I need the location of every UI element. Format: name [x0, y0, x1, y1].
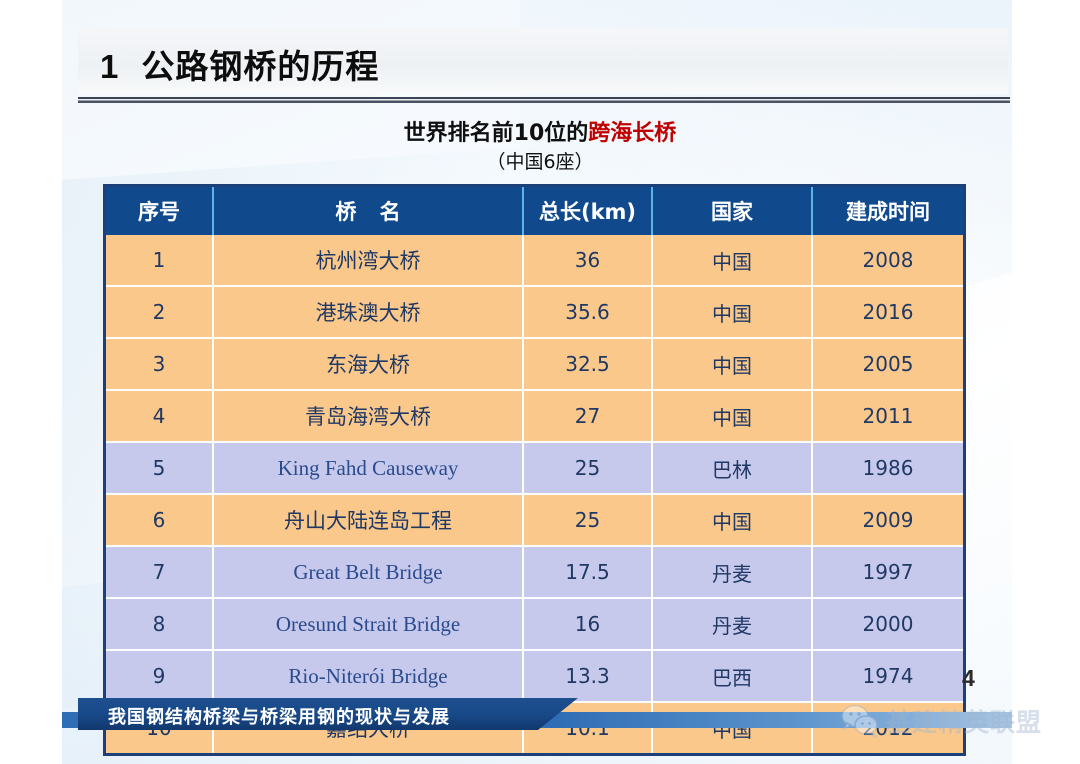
- cell-total-length: 25: [523, 494, 652, 546]
- cell-index: 5: [106, 442, 213, 494]
- watermark-text: 基建精英联盟: [886, 703, 1042, 739]
- table-row: 7Great Belt Bridge17.5丹麦1997: [106, 546, 963, 598]
- cell-total-length: 16: [523, 598, 652, 650]
- cell-index: 6: [106, 494, 213, 546]
- page-title: 1公路钢桥的历程: [100, 40, 379, 88]
- cell-completion-year: 2009: [812, 494, 963, 546]
- cell-country: 丹麦: [652, 598, 812, 650]
- bridges-table-container: 序号 桥 名 总长(km) 国家 建成时间 1杭州湾大桥36中国20082港珠澳…: [103, 184, 966, 756]
- presentation-slide: 1公路钢桥的历程 世界排名前10位的跨海长桥 （中国6座） 序号 桥 名 总长(…: [0, 0, 1080, 764]
- cell-country: 中国: [652, 338, 812, 390]
- cell-total-length: 25: [523, 442, 652, 494]
- column-header-completion-year-label: 建成时间: [846, 200, 930, 224]
- column-header-country: 国家: [652, 187, 812, 235]
- slide-page-number: 4: [962, 665, 975, 692]
- cell-country: 中国: [652, 494, 812, 546]
- cell-completion-year: 2008: [812, 235, 963, 286]
- table-row: 3东海大桥32.5中国2005: [106, 338, 963, 390]
- footer-title: 我国钢结构桥梁与桥梁用钢的现状与发展: [108, 703, 450, 729]
- cell-country: 巴林: [652, 442, 812, 494]
- table-row: 1杭州湾大桥36中国2008: [106, 235, 963, 286]
- cell-completion-year: 1986: [812, 442, 963, 494]
- column-header-total-length: 总长(km): [523, 187, 652, 235]
- cell-index: 7: [106, 546, 213, 598]
- cell-total-length: 35.6: [523, 286, 652, 338]
- subtitle-primary-accent: 跨海长桥: [588, 121, 676, 146]
- cell-completion-year: 2011: [812, 390, 963, 442]
- column-header-index: 序号: [106, 187, 213, 235]
- cell-total-length: 32.5: [523, 338, 652, 390]
- slide-margin-left: [0, 0, 62, 764]
- column-header-bridge-name: 桥 名: [213, 187, 523, 235]
- cell-index: 8: [106, 598, 213, 650]
- cell-country: 中国: [652, 286, 812, 338]
- cell-completion-year: 1997: [812, 546, 963, 598]
- title-divider-rule: [78, 97, 1010, 103]
- slide-margin-right: [1012, 0, 1080, 764]
- table-header: 序号 桥 名 总长(km) 国家 建成时间: [106, 187, 963, 235]
- cell-bridge-name: Great Belt Bridge: [213, 546, 523, 598]
- subtitle-secondary: （中国6座）: [0, 147, 1080, 174]
- wechat-icon: [840, 703, 880, 739]
- cell-index: 4: [106, 390, 213, 442]
- cell-completion-year: 2000: [812, 598, 963, 650]
- title-label: 公路钢桥的历程: [141, 47, 379, 86]
- cell-bridge-name: 舟山大陆连岛工程: [213, 494, 523, 546]
- column-header-total-length-label: 总长(km): [539, 200, 636, 224]
- column-header-country-label: 国家: [711, 200, 753, 224]
- bridges-table: 序号 桥 名 总长(km) 国家 建成时间 1杭州湾大桥36中国20082港珠澳…: [106, 187, 963, 753]
- cell-total-length: 36: [523, 235, 652, 286]
- table-row: 8Oresund Strait Bridge16丹麦2000: [106, 598, 963, 650]
- cell-bridge-name: Oresund Strait Bridge: [213, 598, 523, 650]
- table-row: 4青岛海湾大桥27中国2011: [106, 390, 963, 442]
- cell-country: 丹麦: [652, 546, 812, 598]
- cell-bridge-name: 东海大桥: [213, 338, 523, 390]
- cell-index: 1: [106, 235, 213, 286]
- watermark: 基建精英联盟: [840, 694, 1070, 748]
- subtitle-primary: 世界排名前10位的跨海长桥: [0, 115, 1080, 147]
- subtitle-primary-prefix: 世界排名前10位的: [404, 121, 589, 146]
- column-header-completion-year: 建成时间: [812, 187, 963, 235]
- cell-completion-year: 2005: [812, 338, 963, 390]
- cell-country: 中国: [652, 235, 812, 286]
- column-header-index-label: 序号: [138, 200, 180, 224]
- cell-completion-year: 2016: [812, 286, 963, 338]
- column-header-bridge-name-label: 桥 名: [327, 200, 408, 224]
- table-row: 6舟山大陆连岛工程25中国2009: [106, 494, 963, 546]
- table-header-row: 序号 桥 名 总长(km) 国家 建成时间: [106, 187, 963, 235]
- table-row: 2港珠澳大桥35.6中国2016: [106, 286, 963, 338]
- cell-index: 2: [106, 286, 213, 338]
- cell-bridge-name: 港珠澳大桥: [213, 286, 523, 338]
- cell-total-length: 27: [523, 390, 652, 442]
- table-row: 5King Fahd Causeway25巴林1986: [106, 442, 963, 494]
- cell-total-length: 17.5: [523, 546, 652, 598]
- table-body: 1杭州湾大桥36中国20082港珠澳大桥35.6中国20163东海大桥32.5中…: [106, 235, 963, 753]
- cell-bridge-name: 杭州湾大桥: [213, 235, 523, 286]
- cell-index: 3: [106, 338, 213, 390]
- cell-bridge-name: King Fahd Causeway: [213, 442, 523, 494]
- title-number: 1: [100, 48, 119, 85]
- cell-country: 中国: [652, 390, 812, 442]
- cell-bridge-name: 青岛海湾大桥: [213, 390, 523, 442]
